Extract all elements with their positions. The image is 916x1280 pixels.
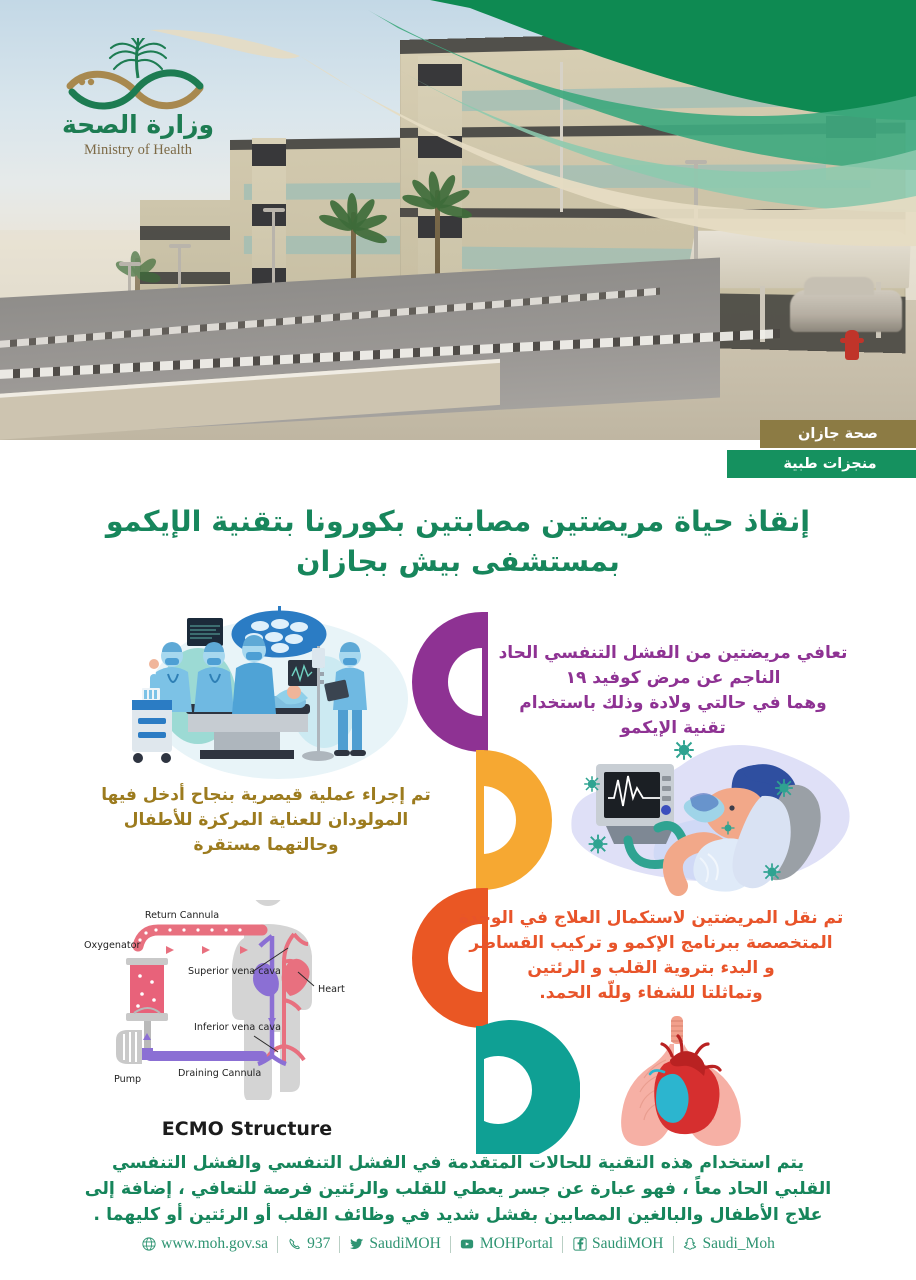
patient-oxygen-mask-illustration <box>558 736 864 902</box>
footer-twitter-label: SaudiMOH <box>369 1235 440 1253</box>
page-title: إنقاذ حياة مريضتين مصابتين بكورونا بتقني… <box>40 502 876 583</box>
infographic-page: وزارة الصحة Ministry of Health صحة جازان… <box>0 0 916 1280</box>
phone-icon <box>287 1237 302 1252</box>
snapchat-icon <box>683 1237 698 1252</box>
footer-youtube[interactable]: MOHPortal <box>451 1235 562 1253</box>
twitter-icon <box>349 1237 364 1252</box>
label-draining-cannula: Draining Cannula <box>178 1068 261 1079</box>
block-recovery-line3: وهما في حالتي ولادة وذلك باستخدام <box>452 691 894 716</box>
parked-suv <box>790 290 902 332</box>
block-transfer-line2: المتخصصة ببرنامج الإكمو و تركيب القساطر <box>416 931 886 956</box>
footer-website[interactable]: www.moh.gov.sa <box>132 1235 277 1253</box>
footer-website-label: www.moh.gov.sa <box>161 1235 268 1253</box>
footer-phone[interactable]: 937 <box>278 1235 339 1253</box>
facebook-icon <box>572 1237 587 1252</box>
fire-hydrant <box>845 330 859 360</box>
block-transfer-line4: وتماثلتا للشفاء وللّه الحمد. <box>416 981 886 1006</box>
block-recovery-line1: تعافي مريضتين من الفشل التنفسي الحاد <box>452 641 894 666</box>
footer-snapchat[interactable]: Saudi_Moh <box>674 1235 784 1253</box>
moh-palm-swords-icon <box>48 38 228 114</box>
block-transfer-line1: تم نقل المريضتين لاستكمال العلاج في الوح… <box>416 906 886 931</box>
oxygenator-unit <box>126 958 168 1021</box>
heart-lungs-illustration <box>600 1016 820 1148</box>
flagpole <box>560 62 563 212</box>
footer-facebook-label: SaudiMOH <box>592 1235 663 1253</box>
block-cesarean-text: تم إجراء عملية قيصرية بنجاح أدخل فيها ال… <box>56 783 476 858</box>
summary-line1: يتم استخدام هذه التقنية للحالات المتقدمة… <box>48 1150 868 1176</box>
label-oxygenator: Oxygenator <box>84 940 140 951</box>
footer-youtube-label: MOHPortal <box>480 1235 553 1253</box>
label-inferior-vena-cava: Inferior vena cava <box>194 1022 281 1033</box>
page-title-line2: بمستشفى بيش بجازان <box>296 545 620 578</box>
footer-phone-label: 937 <box>307 1235 330 1253</box>
badge-category: منجزات طبية <box>727 450 916 478</box>
pump-unit <box>116 1030 142 1064</box>
page-title-line1: إنقاذ حياة مريضتين مصابتين بكورونا بتقني… <box>106 505 810 538</box>
footer-social-bar: www.moh.gov.sa 937 SaudiMOH MOHPortal <box>0 1229 916 1259</box>
block-cesarean-line3: وحالتهما مستقرة <box>56 833 476 858</box>
ribbon-seg-teal <box>476 1020 580 1154</box>
footer-facebook[interactable]: SaudiMOH <box>563 1235 672 1253</box>
label-return-cannula: Return Cannula <box>145 910 219 921</box>
label-superior-vena-cava: Superior vena cava <box>188 966 281 977</box>
footer-snapchat-label: Saudi_Moh <box>703 1235 775 1253</box>
ecmo-diagram-caption: ECMO Structure <box>82 1118 412 1140</box>
logo-arabic-text: وزارة الصحة <box>48 110 228 139</box>
footer-twitter[interactable]: SaudiMOH <box>340 1235 449 1253</box>
block-recovery-line2: الناجم عن مرض كوفيد ١٩ <box>452 666 894 691</box>
surgery-team-illustration <box>128 604 428 790</box>
youtube-icon <box>460 1237 475 1252</box>
block-transfer-text: تم نقل المريضتين لاستكمال العلاج في الوح… <box>416 906 886 1007</box>
label-pump: Pump <box>114 1074 141 1085</box>
header-banner: وزارة الصحة Ministry of Health <box>0 0 916 440</box>
badge-region: صحة جازان <box>760 420 916 448</box>
ribbon-seg-amber <box>476 750 552 890</box>
wall-monitor-icon <box>187 618 223 646</box>
block-transfer-line3: و البدء بتروية القلب و الرئتين <box>416 956 886 981</box>
ecmo-structure-diagram: Return Cannula Oxygenator Superior vena … <box>82 900 412 1100</box>
draining-cannula-line <box>150 1052 262 1060</box>
block-recovery-text: تعافي مريضتين من الفشل التنفسي الحاد الن… <box>452 641 894 742</box>
summary-text: يتم استخدام هذه التقنية للحالات المتقدمة… <box>48 1150 868 1228</box>
logo-english-text: Ministry of Health <box>48 142 228 159</box>
label-heart: Heart <box>318 984 345 995</box>
building-tower-3 <box>826 30 876 180</box>
block-cesarean-line2: المولودان للعناية المركزة للأطفال <box>56 808 476 833</box>
summary-line2: القلبي الحاد معاً ، فهو عبارة عن جسر يعط… <box>48 1176 868 1202</box>
summary-line3: علاج الأطفال والبالغين المصابين بفشل شدي… <box>48 1202 868 1228</box>
globe-icon <box>141 1237 156 1252</box>
moh-logo: وزارة الصحة Ministry of Health <box>48 38 228 168</box>
